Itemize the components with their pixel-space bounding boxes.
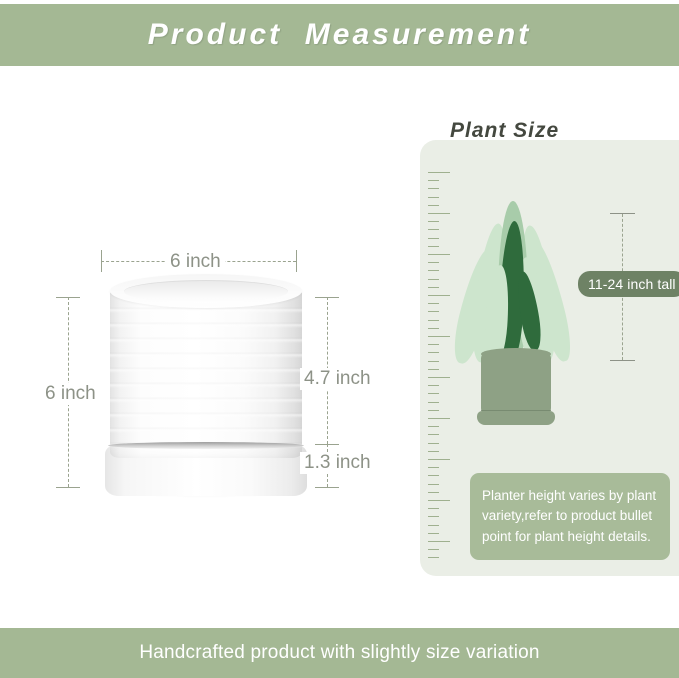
ruler-tick (428, 336, 450, 337)
footer-note: Handcrafted product with slightly size v… (139, 642, 539, 664)
footer-bar: Handcrafted product with slightly size v… (0, 628, 679, 678)
plant-size-title: Plant Size (450, 119, 559, 143)
ruler-tick (428, 221, 439, 222)
snake-plant-illustration (460, 195, 570, 435)
ruler-tick (428, 180, 439, 181)
planter-photo-area (0, 66, 410, 628)
ruler-tick (428, 295, 450, 296)
planter-rim-inner (124, 280, 288, 303)
ruler-tick (428, 270, 439, 271)
ruler-tick (428, 246, 439, 247)
ruler-tick (428, 451, 439, 452)
width-dimension-label: 6 inch (166, 251, 225, 273)
ruler-tick (428, 213, 450, 214)
ruler-tick (428, 377, 450, 378)
ruler-tick (428, 238, 439, 239)
ruler-tick (428, 484, 439, 485)
ruler-tick (428, 549, 439, 550)
ruler-tick (428, 426, 439, 427)
ruler-tick (428, 369, 439, 370)
ruler-tick (428, 410, 439, 411)
width-dimension-cap-right (296, 250, 297, 272)
total-height-cap-bottom (56, 487, 80, 488)
ruler-tick (428, 385, 439, 386)
ruler-tick (428, 525, 439, 526)
ruler-tick (428, 254, 450, 255)
ruler-tick (428, 475, 439, 476)
body-height-label: 4.7 inch (300, 368, 375, 390)
ruler-icon (428, 172, 454, 564)
ruler-tick (428, 467, 439, 468)
ruler-tick (428, 311, 439, 312)
ruler-tick (428, 197, 439, 198)
plant-pot-saucer (477, 411, 555, 425)
ruler-tick (428, 500, 450, 501)
total-height-label: 6 inch (41, 383, 100, 405)
product-measurement-infographic: Product Measurement 6 inch 6 inch 4.7 in… (0, 0, 679, 678)
planter-saucer-gap (108, 442, 304, 449)
plant-height-cap-bottom (610, 360, 635, 361)
plant-pot-body (481, 353, 551, 415)
ruler-tick (428, 459, 450, 460)
ruler-tick (428, 361, 439, 362)
plant-height-note: Planter height varies by plant variety,r… (470, 473, 670, 560)
ruler-tick (428, 533, 439, 534)
ruler-tick (428, 402, 439, 403)
ruler-tick (428, 320, 439, 321)
ruler-tick (428, 443, 439, 444)
ruler-tick (428, 287, 439, 288)
ruler-tick (428, 516, 439, 517)
ruler-tick (428, 188, 439, 189)
ruler-tick (428, 434, 439, 435)
ruler-tick (428, 328, 439, 329)
ruler-tick (428, 172, 450, 173)
plant-height-badge: 11-24 inch tall (578, 271, 679, 297)
ruler-tick (428, 262, 439, 263)
saucer-height-label: 1.3 inch (300, 452, 375, 474)
header-bar: Product Measurement (0, 4, 679, 66)
ruler-tick (428, 352, 439, 353)
page-title: Product Measurement (148, 18, 531, 52)
ruler-tick (428, 303, 439, 304)
ruler-tick (428, 279, 439, 280)
planter-body (110, 288, 302, 458)
ruler-tick (428, 344, 439, 345)
ruler-tick (428, 557, 439, 558)
ruler-tick (428, 508, 439, 509)
ruler-tick (428, 393, 439, 394)
saucer-height-cap-bottom (315, 487, 339, 488)
ruler-tick (428, 229, 439, 230)
ruler-tick (428, 541, 450, 542)
ruler-tick (428, 418, 450, 419)
ruler-tick (428, 205, 439, 206)
ruler-tick (428, 492, 439, 493)
